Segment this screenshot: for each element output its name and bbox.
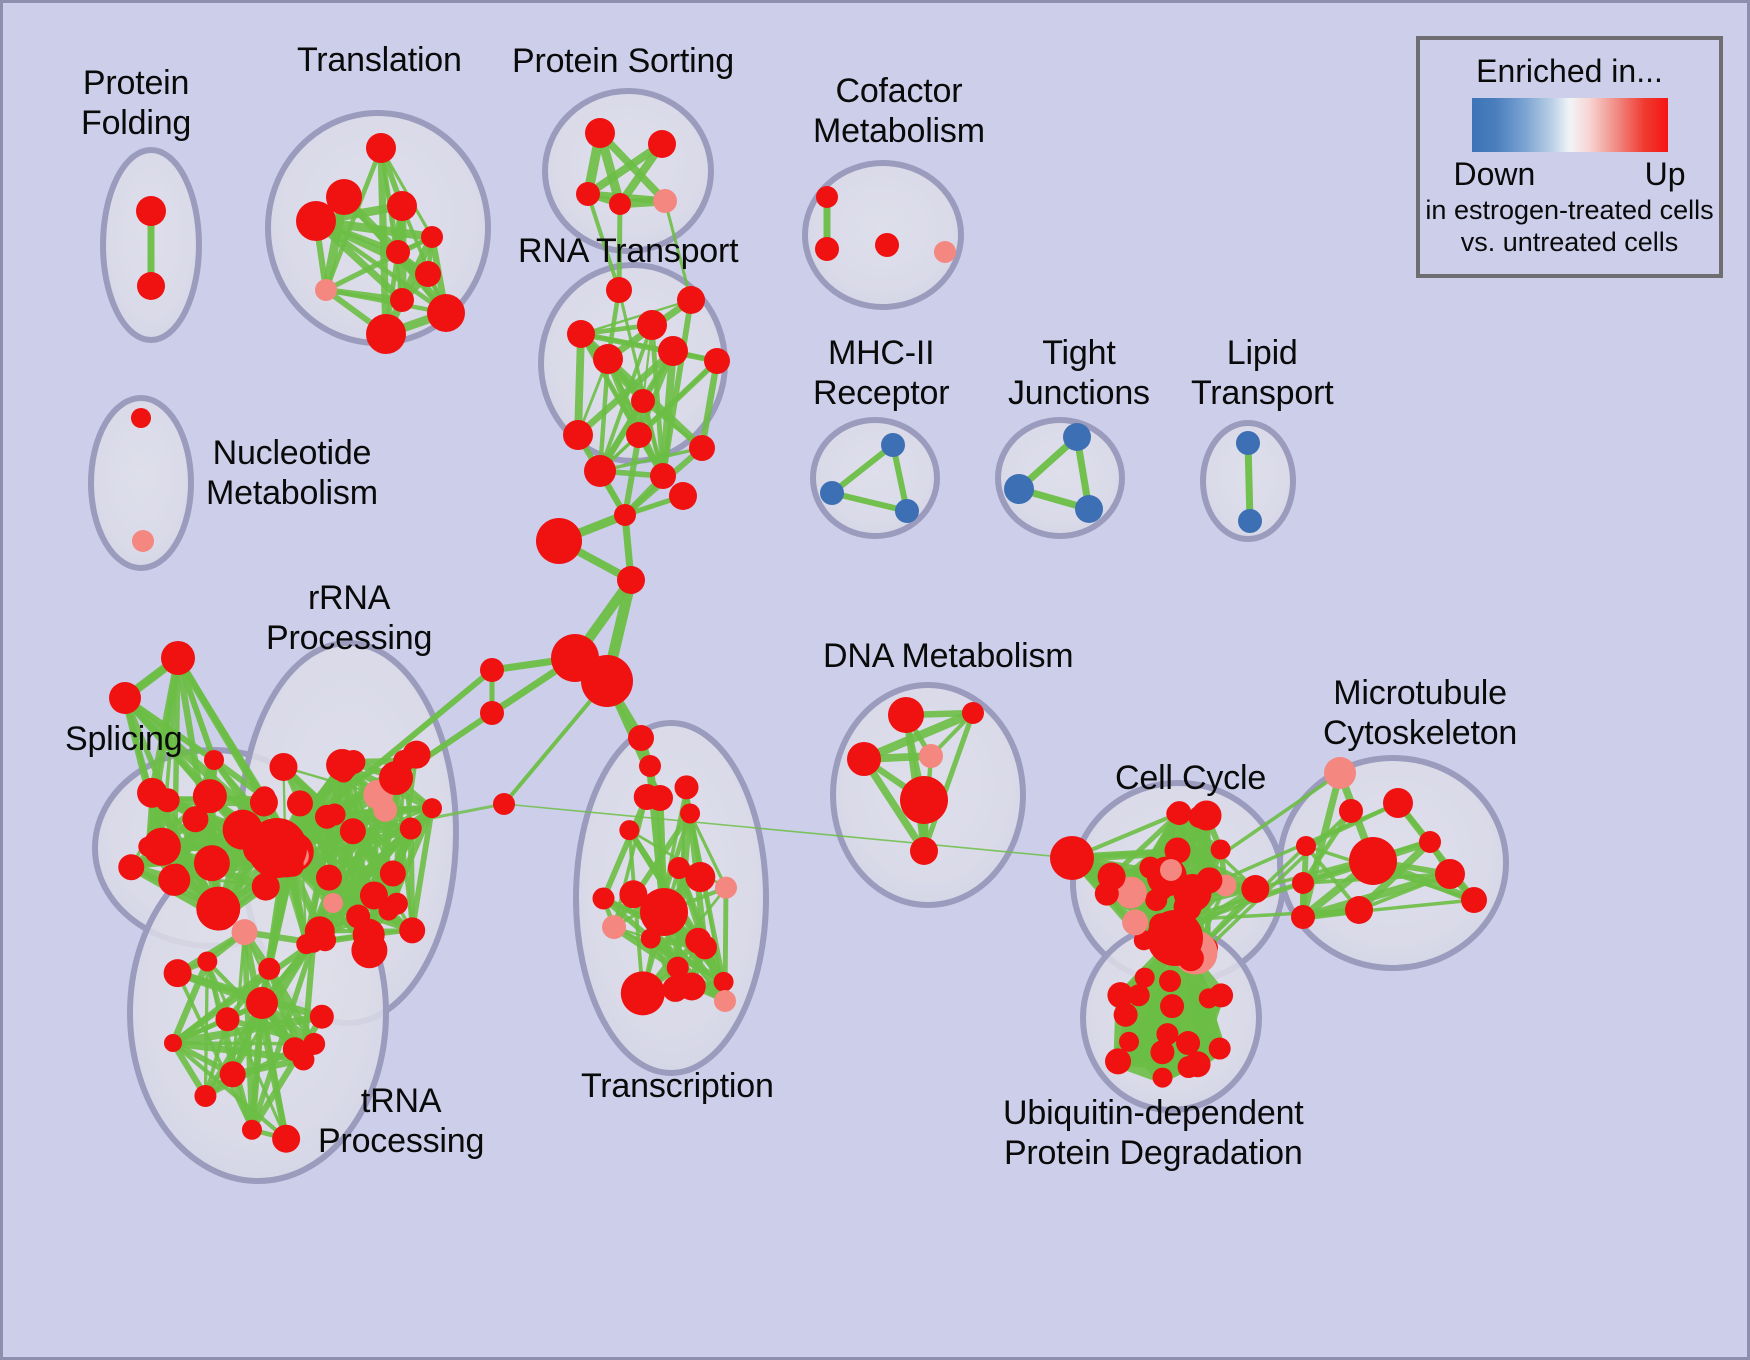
gene-set-node-trna-processing bbox=[215, 1007, 239, 1031]
gene-set-node-translation bbox=[415, 261, 441, 287]
gene-set-node-bridge bbox=[639, 755, 661, 777]
gene-set-node-splicing bbox=[156, 788, 180, 812]
gene-set-node-cell-cycle bbox=[1167, 801, 1191, 825]
gene-set-node-mhc-ii-receptor bbox=[881, 433, 905, 457]
gene-set-node-lipid-transport bbox=[1236, 431, 1260, 455]
gene-set-node-cell-cycle bbox=[1192, 800, 1222, 830]
gene-set-node-nucleotide-metabolism bbox=[132, 530, 154, 552]
cluster-label-nucleotide-metabolism: Nucleotide Metabolism bbox=[206, 433, 378, 513]
legend-subtitle-line2: vs. untreated cells bbox=[1425, 226, 1713, 258]
cluster-label-tight-junctions: Tight Junctions bbox=[1008, 333, 1150, 413]
gene-set-node-microtubule-cytoskeleton bbox=[1435, 859, 1465, 889]
gene-set-node-microtubule-cytoskeleton bbox=[1292, 872, 1314, 894]
gene-set-node-rna-transport bbox=[631, 389, 655, 413]
gene-set-node-rrna-processing bbox=[287, 790, 313, 816]
gene-set-node-transcription bbox=[662, 976, 688, 1002]
gene-set-node-transcription bbox=[621, 971, 665, 1015]
gene-set-node-transcription bbox=[714, 972, 734, 992]
gene-set-node-transcription bbox=[680, 803, 700, 823]
gene-set-node-bridge bbox=[647, 785, 673, 811]
gene-set-node-nucleotide-metabolism bbox=[131, 408, 151, 428]
gene-set-node-ubiquitin-protein-degradation bbox=[1156, 1023, 1178, 1045]
gene-set-node-transcription bbox=[619, 820, 639, 840]
gene-set-node-trna-processing bbox=[246, 987, 278, 1019]
gene-set-node-protein-sorting bbox=[648, 130, 676, 158]
gene-set-node-cell-cycle bbox=[1241, 875, 1269, 903]
gene-set-node-rna-transport bbox=[563, 420, 593, 450]
gene-set-node-rrna-processing bbox=[247, 818, 307, 878]
gene-set-node-microtubule-cytoskeleton bbox=[1383, 788, 1413, 818]
gene-set-node-transcription bbox=[685, 862, 715, 892]
gene-set-node-splicing bbox=[161, 641, 195, 675]
gene-set-node-trna-processing bbox=[197, 951, 217, 971]
gene-set-node-rrna-processing bbox=[360, 881, 388, 909]
gene-set-node-ubiquitin-protein-degradation bbox=[1105, 1048, 1131, 1074]
gene-set-node-rna-transport bbox=[704, 348, 730, 374]
gene-set-node-ubiquitin-protein-degradation bbox=[1178, 945, 1204, 971]
gene-set-node-ubiquitin-protein-degradation bbox=[1135, 968, 1155, 988]
gene-set-node-cell-cycle bbox=[1160, 859, 1182, 881]
gene-set-node-microtubule-cytoskeleton bbox=[1296, 836, 1316, 856]
gene-set-node-dna-metabolism bbox=[888, 697, 924, 733]
gene-set-node-microtubule-cytoskeleton bbox=[1419, 831, 1441, 853]
cluster-label-translation: Translation bbox=[297, 40, 462, 80]
legend-endpoint-labels: Down Up bbox=[1454, 156, 1686, 192]
gene-set-node-translation bbox=[296, 201, 336, 241]
cluster-label-cell-cycle: Cell Cycle bbox=[1115, 758, 1266, 798]
gene-set-node-translation bbox=[315, 279, 337, 301]
gene-set-node-protein-sorting bbox=[609, 193, 631, 215]
legend-subtitle-line1: in estrogen-treated cells bbox=[1425, 194, 1713, 226]
gene-set-node-rrna-processing bbox=[323, 893, 343, 913]
gene-set-node-ubiquitin-protein-degradation bbox=[1209, 983, 1233, 1007]
gene-set-node-translation bbox=[427, 294, 465, 332]
gene-set-node-translation bbox=[390, 288, 414, 312]
gene-set-node-transcription bbox=[602, 915, 626, 939]
gene-set-node-protein-sorting bbox=[576, 182, 600, 206]
gene-set-node-ubiquitin-protein-degradation bbox=[1107, 982, 1133, 1008]
gene-set-node-splicing bbox=[138, 837, 158, 857]
gene-set-node-bridge bbox=[628, 725, 654, 751]
gene-set-node-protein-folding bbox=[136, 196, 166, 226]
gene-set-node-microtubule-cytoskeleton bbox=[1345, 896, 1373, 924]
gene-set-node-translation bbox=[421, 226, 443, 248]
gene-set-node-rrna-processing bbox=[269, 753, 297, 781]
gene-set-node-trna-processing bbox=[310, 1005, 334, 1029]
gene-set-node-transcription bbox=[685, 928, 711, 954]
gene-set-node-mhc-ii-receptor bbox=[895, 499, 919, 523]
gene-set-node-rrna-processing bbox=[379, 761, 413, 795]
gene-set-node-ubiquitin-protein-degradation bbox=[1159, 970, 1181, 992]
gene-set-node-dna-metabolism bbox=[847, 742, 881, 776]
gene-set-node-microtubule-cytoskeleton bbox=[1339, 799, 1363, 823]
gene-set-node-microtubule-cytoskeleton bbox=[1324, 757, 1356, 789]
gene-set-node-trna-processing bbox=[164, 959, 192, 987]
gene-set-node-translation bbox=[386, 240, 410, 264]
gene-set-node-translation bbox=[366, 133, 396, 163]
gene-set-node-rrna-processing bbox=[380, 860, 406, 886]
gene-set-node-cell-cycle bbox=[1122, 909, 1148, 935]
gene-set-node-splicing bbox=[250, 788, 278, 816]
gene-set-node-dna-metabolism bbox=[962, 702, 984, 724]
gene-set-node-protein-sorting bbox=[585, 118, 615, 148]
gene-set-node-trna-processing bbox=[194, 1085, 216, 1107]
cluster-ellipse-mhc-ii-receptor bbox=[813, 420, 937, 536]
cluster-label-cofactor-metabolism: Cofactor Metabolism bbox=[813, 71, 985, 151]
gene-set-node-rrna-processing bbox=[324, 804, 346, 826]
gene-set-node-dna-metabolism bbox=[900, 776, 948, 824]
gene-set-node-trna-processing bbox=[220, 1061, 246, 1087]
gene-set-node-tight-junctions bbox=[1063, 423, 1091, 451]
gene-set-node-trna-processing bbox=[242, 1120, 262, 1140]
gene-set-node-bridge bbox=[614, 504, 636, 526]
gene-set-node-bridge bbox=[493, 793, 515, 815]
cluster-label-rna-transport: RNA Transport bbox=[518, 231, 738, 271]
gene-set-node-rrna-processing bbox=[400, 818, 422, 840]
network-edge bbox=[578, 334, 581, 435]
gene-set-node-transcription bbox=[675, 775, 699, 799]
gene-set-node-cell-cycle bbox=[1050, 836, 1094, 880]
legend-title: Enriched in... bbox=[1476, 54, 1663, 88]
gene-set-node-rna-transport bbox=[584, 455, 616, 487]
gene-set-node-trna-processing bbox=[258, 958, 280, 980]
gene-set-node-splicing bbox=[204, 750, 224, 770]
gene-set-node-splicing bbox=[182, 806, 208, 832]
gene-set-node-cofactor-metabolism bbox=[934, 241, 956, 263]
cluster-label-splicing: Splicing bbox=[65, 719, 182, 759]
gene-set-node-tight-junctions bbox=[1075, 495, 1103, 523]
cluster-label-trna-processing: tRNA Processing bbox=[318, 1081, 484, 1161]
gene-set-node-trna-processing bbox=[164, 1034, 182, 1052]
gene-set-node-splicing bbox=[158, 864, 190, 896]
gene-set-node-rna-transport bbox=[606, 277, 632, 303]
gene-set-node-rna-transport bbox=[650, 463, 676, 489]
gene-set-node-rna-transport bbox=[677, 286, 705, 314]
gene-set-node-ubiquitin-protein-degradation bbox=[1160, 994, 1184, 1018]
gene-set-node-splicing bbox=[118, 854, 144, 880]
gene-set-node-rrna-processing bbox=[316, 865, 342, 891]
gene-set-node-transcription bbox=[640, 888, 688, 936]
gene-set-node-trna-processing bbox=[232, 919, 258, 945]
gene-set-node-bridge bbox=[536, 518, 582, 564]
gene-set-node-translation bbox=[387, 191, 417, 221]
cluster-label-dna-metabolism: DNA Metabolism bbox=[823, 636, 1073, 676]
gene-set-node-bridge bbox=[480, 658, 504, 682]
legend-box: Enriched in... Down Up in estrogen-treat… bbox=[1416, 36, 1723, 278]
legend-up-label: Up bbox=[1645, 156, 1686, 192]
gene-set-node-cell-cycle bbox=[1098, 863, 1126, 891]
legend-subtitle: in estrogen-treated cells vs. untreated … bbox=[1425, 194, 1713, 258]
gene-set-node-ubiquitin-protein-degradation bbox=[1153, 1068, 1173, 1088]
enrichment-map-figure: Protein FoldingTranslationProtein Sortin… bbox=[0, 0, 1750, 1360]
gene-set-node-bridge bbox=[581, 655, 633, 707]
legend-color-bar bbox=[1472, 98, 1668, 152]
gene-set-node-dna-metabolism bbox=[919, 744, 943, 768]
gene-set-node-rrna-processing bbox=[346, 905, 370, 929]
gene-set-node-rrna-processing bbox=[351, 932, 387, 968]
gene-set-node-protein-sorting bbox=[653, 189, 677, 213]
gene-set-node-transcription bbox=[667, 957, 689, 979]
gene-set-node-rna-transport bbox=[626, 422, 652, 448]
gene-set-node-rrna-processing bbox=[340, 818, 366, 844]
gene-set-node-rrna-processing bbox=[403, 741, 431, 769]
cluster-label-transcription: Transcription bbox=[581, 1066, 774, 1106]
gene-set-node-cell-cycle bbox=[1211, 840, 1231, 860]
gene-set-node-bridge bbox=[669, 482, 697, 510]
gene-set-node-rrna-processing bbox=[341, 750, 365, 774]
gene-set-node-transcription bbox=[714, 990, 736, 1012]
cluster-label-microtubule-cytoskeleton: Microtubule Cytoskeleton bbox=[1323, 673, 1517, 753]
gene-set-node-microtubule-cytoskeleton bbox=[1461, 887, 1487, 913]
cluster-label-lipid-transport: Lipid Transport bbox=[1191, 333, 1333, 413]
gene-set-node-protein-folding bbox=[137, 272, 165, 300]
gene-set-node-mhc-ii-receptor bbox=[820, 481, 844, 505]
cluster-label-rrna-processing: rRNA Processing bbox=[266, 578, 432, 658]
gene-set-node-rna-transport bbox=[637, 310, 667, 340]
gene-set-node-cofactor-metabolism bbox=[816, 186, 838, 208]
gene-set-node-trna-processing bbox=[272, 1125, 300, 1153]
gene-set-node-ubiquitin-protein-degradation bbox=[1185, 1051, 1211, 1077]
gene-set-node-rna-transport bbox=[658, 336, 688, 366]
gene-set-node-rrna-processing bbox=[422, 798, 442, 818]
gene-set-node-cofactor-metabolism bbox=[815, 237, 839, 261]
gene-set-node-rrna-processing bbox=[399, 917, 425, 943]
gene-set-node-translation bbox=[366, 314, 406, 354]
gene-set-node-ubiquitin-protein-degradation bbox=[1119, 1032, 1139, 1052]
gene-set-node-cofactor-metabolism bbox=[875, 233, 899, 257]
gene-set-node-tight-junctions bbox=[1004, 474, 1034, 504]
cluster-label-mhc-ii-receptor: MHC-II Receptor bbox=[813, 333, 949, 413]
legend-down-label: Down bbox=[1454, 156, 1536, 192]
gene-set-node-lipid-transport bbox=[1238, 509, 1262, 533]
gene-set-node-splicing bbox=[196, 887, 240, 931]
gene-set-node-trna-processing bbox=[303, 1033, 325, 1055]
gene-set-node-transcription bbox=[715, 877, 737, 899]
gene-set-node-rna-transport bbox=[567, 320, 595, 348]
gene-set-node-splicing bbox=[194, 845, 230, 881]
gene-set-node-splicing bbox=[109, 682, 141, 714]
gene-set-node-bridge bbox=[617, 566, 645, 594]
gene-set-node-rna-transport bbox=[593, 344, 623, 374]
cluster-label-protein-sorting: Protein Sorting bbox=[512, 41, 734, 81]
gene-set-node-cell-cycle bbox=[1196, 867, 1222, 893]
gene-set-node-microtubule-cytoskeleton bbox=[1349, 837, 1397, 885]
gene-set-node-trna-processing bbox=[303, 933, 323, 953]
gene-set-node-bridge bbox=[480, 701, 504, 725]
gene-set-node-microtubule-cytoskeleton bbox=[1291, 905, 1315, 929]
gene-set-node-dna-metabolism bbox=[910, 837, 938, 865]
cluster-label-ubiquitin-protein-degradation: Ubiquitin-dependent Protein Degradation bbox=[1003, 1093, 1304, 1173]
cluster-label-protein-folding: Protein Folding bbox=[81, 63, 191, 143]
gene-set-node-transcription bbox=[593, 887, 615, 909]
gene-set-node-ubiquitin-protein-degradation bbox=[1209, 1038, 1231, 1060]
gene-set-node-rna-transport bbox=[689, 435, 715, 461]
gene-set-node-rrna-processing bbox=[373, 798, 397, 822]
